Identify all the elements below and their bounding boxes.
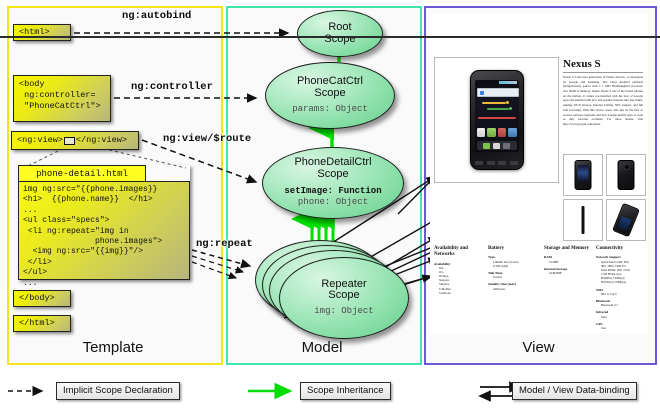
spec-column-availability: Availability and Networks Availability M…	[434, 246, 480, 295]
label-ng-controller: ng:controller	[131, 81, 213, 93]
phone-dot-2	[509, 107, 512, 110]
note-phone-detail-html[interactable]: phone-detail.html img ng:src="{{phone.im…	[18, 165, 190, 280]
thumbnail-phone-front[interactable]	[563, 154, 603, 196]
label-ng-view-route: ng:view/$route	[163, 133, 251, 145]
code-body-tag[interactable]: <body ng:controller= "PhoneCatCtrl">	[13, 75, 111, 122]
spec-values: 802.11 b/g/n	[601, 292, 648, 296]
thumbnail-phone-angled[interactable]	[606, 199, 646, 241]
scope-repeater-title: Repeater Scope	[321, 279, 366, 303]
spec-heading: Availability and Networks	[434, 246, 480, 259]
spec-values: Lithium Ion (Li-Ion)(1500 mAh)	[493, 260, 542, 268]
code-close-html[interactable]: </html>	[13, 315, 71, 332]
prop-setimage: setImage: Function	[284, 186, 381, 196]
product-main-image[interactable]	[434, 57, 559, 183]
phone-speaker-icon	[489, 74, 505, 76]
code-close-body[interactable]: </body>	[13, 290, 71, 307]
phone-dock	[477, 141, 517, 150]
phone-accent-line-1	[482, 102, 506, 104]
legend-separator	[0, 36, 660, 38]
spec-column-storage: Storage and Memory RAM 512MB Internal St…	[544, 246, 600, 275]
rendered-view-page: Nexus S Nexus S is the next generation o…	[430, 14, 648, 334]
note-filename: phone-detail.html	[18, 165, 146, 182]
spec-heading: Battery	[488, 246, 542, 252]
spec-values: false	[601, 315, 648, 319]
spec-column-battery: Battery Type Lithium Ion (Li-Ion)(1500 m…	[488, 246, 542, 291]
spec-values: Bluetooth 2.1	[601, 303, 648, 307]
phone-dot-1	[506, 101, 509, 104]
spec-heading: Connectivity	[596, 246, 648, 252]
scope-phonecatctrl-props: params: Object	[292, 104, 368, 115]
spec-values: 428 hours	[493, 287, 542, 291]
scope-root-title: Root Scope	[324, 22, 355, 46]
panel-label-view: View	[424, 339, 653, 356]
ngview-placeholder-icon	[64, 137, 75, 145]
diagram-canvas: ng:autobind ng:controller ng:view/$route…	[0, 0, 660, 420]
product-description: Nexus S is the next generation of Nexus …	[563, 75, 643, 145]
phone-statusbar	[499, 81, 517, 84]
phone-screen	[475, 80, 519, 152]
thumbnail-phone-edge[interactable]	[563, 199, 603, 241]
spec-heading: Storage and Memory	[544, 246, 600, 252]
scope-phonecatctrl[interactable]: PhoneCatCtrl Scope params: Object	[265, 62, 395, 129]
prop-phone: phone: Object	[298, 197, 368, 207]
phone-illustration	[470, 70, 524, 170]
scope-repeater-stack[interactable]: Repeater Scope img: Object	[255, 232, 407, 337]
code-ngview-tag[interactable]: <ng:view></ng:view>	[11, 131, 139, 150]
legend-label-model-view-data-binding: Model / View Data-binding	[512, 382, 637, 400]
panel-label-model: Model	[226, 339, 418, 356]
panel-label-template: Template	[7, 339, 219, 356]
scope-repeater-props: img: Object	[314, 306, 373, 317]
spec-values: 16384MB	[549, 271, 600, 275]
scope-phonedetailctrl[interactable]: PhoneDetailCtrl Scope setImage: Function…	[262, 147, 404, 219]
phone-accent-line-3	[478, 117, 516, 119]
spec-values: M1,O2,Orange,Negotel,SingTel,T-Mobile,Vo…	[439, 266, 480, 295]
code-html-tag[interactable]: <html>	[13, 24, 71, 41]
legend: Implicit Scope Declaration Scope Inherit…	[0, 375, 660, 415]
ngview-close: </ng:view>	[76, 135, 127, 146]
phone-accent-line-2	[487, 108, 509, 110]
spec-values: Quad-band GSM: 850,900, 1800, 1900 Tri-b…	[601, 260, 648, 285]
scope-phonedetailctrl-title: PhoneDetailCtrl Scope	[294, 157, 371, 181]
spec-column-connectivity: Connectivity Network Support Quad-band G…	[596, 246, 648, 330]
spec-table: Availability and Networks Availability M…	[434, 246, 646, 334]
phone-app-icons	[477, 128, 517, 140]
scope-phonedetailctrl-props: setImage: Function phone: Object	[284, 186, 381, 209]
scope-phonecatctrl-title: PhoneCatCtrl Scope	[297, 76, 363, 100]
legend-label-implicit-scope-declaration: Implicit Scope Declaration	[56, 382, 180, 400]
title-divider	[563, 72, 643, 73]
scope-repeater[interactable]: Repeater Scope img: Object	[279, 257, 409, 339]
label-ng-repeat: ng:repeat	[196, 238, 253, 250]
spec-values: 512MB	[549, 260, 600, 264]
legend-label-scope-inheritance: Scope Inheritance	[300, 382, 391, 400]
phone-hardware-buttons	[475, 159, 519, 166]
phone-search-widget	[477, 88, 519, 97]
ngview-open: <ng:view>	[17, 135, 63, 146]
spec-values: true	[601, 326, 648, 330]
product-title: Nexus S	[563, 58, 643, 70]
spec-values: 6 hours	[493, 275, 542, 279]
scope-root[interactable]: Root Scope	[297, 10, 383, 57]
note-code: img ng:src="{{phone.images}} <h1> {{phon…	[18, 181, 190, 280]
label-ng-autobind: ng:autobind	[122, 10, 191, 22]
thumbnail-phone-back[interactable]	[606, 154, 646, 196]
